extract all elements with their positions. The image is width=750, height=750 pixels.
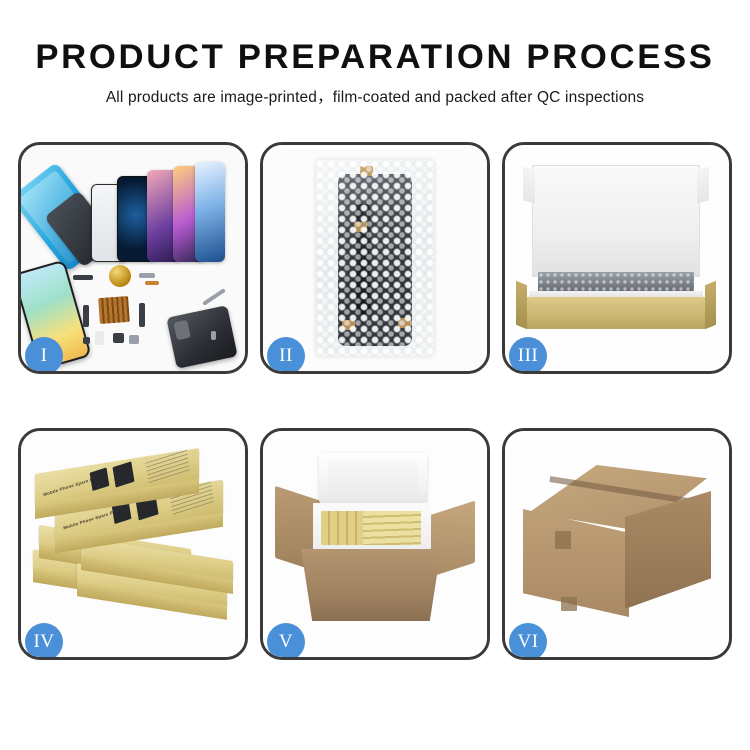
speaker-component-icon: [109, 265, 131, 287]
part-screw2-icon: [211, 331, 216, 340]
process-panel-grid: I II III: [18, 142, 732, 682]
bubble-wrap-bag: [316, 160, 434, 356]
carton-front-icon: [301, 549, 441, 621]
panel-3-image: III: [505, 145, 729, 371]
tweezers-icon: [202, 288, 226, 306]
part-battery-icon: [95, 331, 104, 345]
panel-1-image: I: [21, 145, 245, 371]
part-camera-icon: [113, 333, 124, 343]
panel-5-badge: V: [267, 623, 305, 657]
process-panel-1[interactable]: I: [18, 142, 248, 374]
panel-1-badge: I: [25, 337, 63, 371]
process-panel-6[interactable]: VI: [502, 428, 732, 660]
panel-4-badge: IV: [25, 623, 63, 657]
part-plate-icon: [139, 273, 155, 278]
part-chip-icon: [129, 335, 139, 344]
process-panel-3[interactable]: III: [502, 142, 732, 374]
page-header: PRODUCT PREPARATION PROCESS All products…: [0, 0, 750, 108]
box-screen-image-1b: [112, 461, 134, 487]
styrofoam-lid-icon: [319, 453, 427, 505]
panel-3-badge: III: [509, 337, 547, 371]
part-cable-icon: [83, 305, 89, 327]
bubble-texture-overlay: [316, 160, 434, 356]
process-panel-5[interactable]: V: [260, 428, 490, 660]
process-panel-4[interactable]: Mobile Phone Spare Parts Mobile Phone Sp…: [18, 428, 248, 660]
kraft-box-front-icon: [525, 297, 707, 329]
panel-6-badge: VI: [509, 623, 547, 657]
page-title: PRODUCT PREPARATION PROCESS: [0, 38, 750, 76]
box-stack: Mobile Phone Spare Parts Mobile Phone Sp…: [27, 449, 239, 645]
panel-2-badge: II: [267, 337, 305, 371]
part-cable2-icon: [139, 303, 145, 327]
part-flex-icon: [145, 281, 159, 285]
panel-5-image: V: [263, 431, 487, 657]
panel-2-image: II: [263, 145, 487, 371]
phone-screen-fan: [91, 157, 226, 262]
phone-back-housing-icon: [166, 305, 237, 369]
page-subtitle: All products are image-printed，film-coat…: [0, 88, 750, 108]
part-screw-icon: [83, 337, 90, 344]
screen-blue-icon: [195, 162, 225, 262]
process-panel-2[interactable]: II: [260, 142, 490, 374]
carton-tab-lower-icon: [561, 597, 577, 611]
panel-4-image: Mobile Phone Spare Parts Mobile Phone Sp…: [21, 431, 245, 657]
box-lid-icon: [532, 165, 700, 277]
yellow-boxes-stack-icon: [363, 511, 421, 545]
panel-6-image: VI: [505, 431, 729, 657]
screw-grid-icon: [98, 296, 130, 324]
box-screen-image-1a: [90, 467, 110, 491]
carton-tab-upper-icon: [555, 531, 571, 549]
part-bracket-icon: [73, 275, 93, 280]
